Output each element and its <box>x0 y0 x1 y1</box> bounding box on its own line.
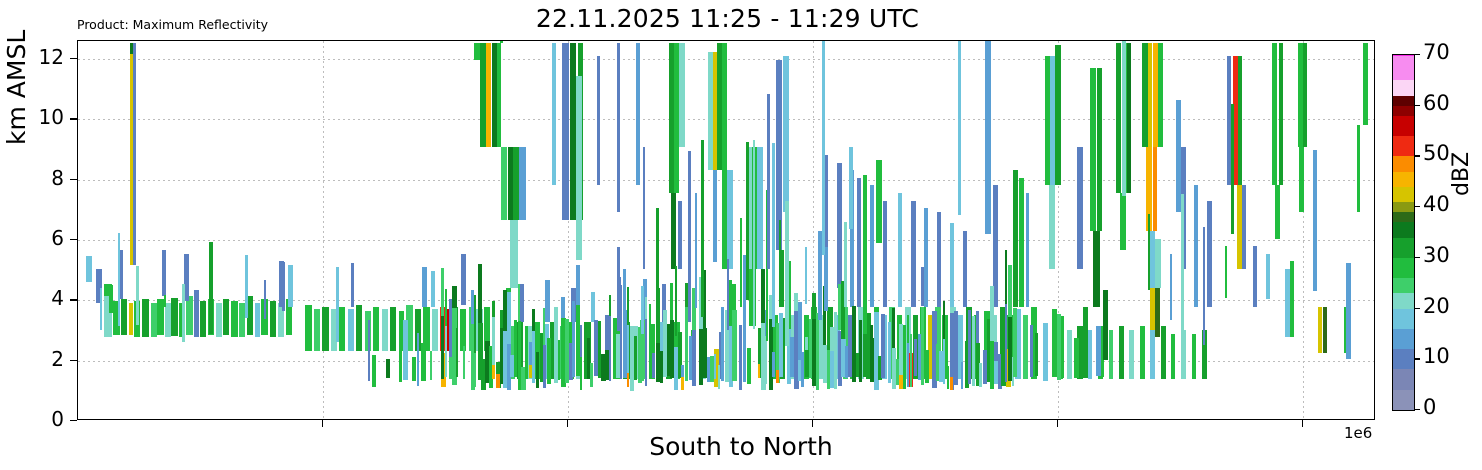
reflectivity-cell <box>1225 246 1227 299</box>
reflectivity-cell <box>518 321 521 390</box>
reflectivity-cell <box>1049 185 1055 269</box>
reflectivity-cell <box>910 334 912 388</box>
reflectivity-cell <box>399 340 402 382</box>
reflectivity-cell <box>753 140 755 328</box>
reflectivity-cell <box>947 366 950 389</box>
reflectivity-cell <box>500 41 503 43</box>
reflectivity-cell <box>963 231 967 307</box>
colorbar-band <box>1393 106 1414 116</box>
reflectivity-cell <box>118 233 120 326</box>
reflectivity-cell <box>200 301 206 337</box>
reflectivity-cell <box>598 321 601 379</box>
reflectivity-cell <box>645 319 647 386</box>
reflectivity-cell <box>591 292 595 322</box>
reflectivity-cell <box>1253 246 1257 307</box>
reflectivity-cell <box>688 151 690 322</box>
reflectivity-cell <box>1176 100 1181 212</box>
reflectivity-cell <box>1266 254 1270 300</box>
reflectivity-cell <box>386 359 391 377</box>
reflectivity-cell <box>1194 185 1198 307</box>
reflectivity-cell <box>339 307 345 351</box>
y-axis-tick <box>70 179 77 180</box>
reflectivity-cell <box>972 316 975 387</box>
reflectivity-cell <box>231 301 237 337</box>
reflectivity-cell <box>1019 178 1024 307</box>
reflectivity-cell <box>216 303 222 337</box>
colorbar-band <box>1393 212 1414 222</box>
y-axis-tick <box>70 239 77 240</box>
reflectivity-cell <box>681 377 683 391</box>
reflectivity-cell <box>1153 147 1158 231</box>
reflectivity-cell <box>109 285 113 313</box>
reflectivity-cell <box>1043 323 1047 381</box>
reflectivity-cell <box>513 147 519 219</box>
reflectivity-cell <box>1192 334 1197 380</box>
y-axis-tick-label: 4 <box>18 286 64 310</box>
reflectivity-cell <box>645 297 647 319</box>
reflectivity-cell <box>727 170 733 269</box>
colorbar-tick <box>1414 257 1420 258</box>
reflectivity-cell <box>713 170 717 262</box>
y-axis-tick <box>70 360 77 361</box>
colorbar-tick <box>1414 105 1420 106</box>
reflectivity-cell <box>171 298 177 336</box>
reflectivity-cell <box>714 354 716 379</box>
reflectivity-cell <box>356 305 362 351</box>
reflectivity-cell <box>985 40 990 234</box>
reflectivity-cell <box>623 269 626 341</box>
reflectivity-cell <box>958 40 961 215</box>
reflectivity-cell <box>649 304 652 378</box>
reflectivity-cell <box>805 247 808 303</box>
reflectivity-cell <box>336 267 339 342</box>
reflectivity-cell <box>609 316 611 381</box>
y-axis-tick-label: 6 <box>18 226 64 250</box>
reflectivity-cell <box>627 287 629 325</box>
reflectivity-cell <box>561 297 565 318</box>
reflectivity-cell <box>129 303 134 335</box>
reflectivity-cell <box>474 295 476 352</box>
reflectivity-cell <box>121 299 127 335</box>
y-axis-tick <box>70 118 77 119</box>
reflectivity-cell <box>816 313 819 390</box>
colorbar-band <box>1393 293 1414 308</box>
reflectivity-cell <box>486 43 492 148</box>
colorbar-tick-label: 60 <box>1423 91 1450 115</box>
reflectivity-cell <box>441 268 443 317</box>
reflectivity-cell <box>876 160 881 243</box>
colorbar-band <box>1393 369 1414 389</box>
reflectivity-cell <box>620 324 623 379</box>
colorbar-band <box>1393 278 1414 293</box>
reflectivity-cell <box>1090 68 1096 231</box>
reflectivity-cell <box>675 266 677 337</box>
reflectivity-cell <box>1083 307 1088 378</box>
reflectivity-cell <box>86 256 92 283</box>
reflectivity-cell <box>282 262 285 312</box>
reflectivity-cell <box>765 336 767 384</box>
reflectivity-cell <box>1150 330 1155 379</box>
reflectivity-cell <box>671 193 676 269</box>
reflectivity-cell <box>1148 43 1153 148</box>
reflectivity-cell <box>264 280 267 319</box>
reflectivity-cell <box>950 223 954 307</box>
reflectivity-cell <box>1077 147 1082 269</box>
reflectivity-cell <box>758 364 761 378</box>
reflectivity-cell <box>461 254 466 305</box>
reflectivity-cell <box>536 352 539 387</box>
colorbar-tick-label: 0 <box>1423 395 1436 419</box>
reflectivity-cell <box>921 267 924 306</box>
reflectivity-cell <box>100 288 102 330</box>
reflectivity-cell <box>590 363 593 387</box>
reflectivity-cell <box>845 346 848 378</box>
reflectivity-cell <box>914 339 917 376</box>
reflectivity-cell <box>456 328 458 377</box>
reflectivity-cell <box>194 290 199 338</box>
reflectivity-cell <box>888 322 890 383</box>
reflectivity-cell <box>580 325 582 357</box>
reflectivity-cell <box>322 307 328 351</box>
reflectivity-cell <box>547 338 552 384</box>
reflectivity-cell <box>1303 43 1307 148</box>
reflectivity-cell <box>609 295 611 315</box>
reflectivity-cell <box>1005 304 1008 382</box>
colorbar-band <box>1393 187 1414 202</box>
reflectivity-cell <box>430 351 433 381</box>
reflectivity-cell <box>892 308 895 348</box>
reflectivity-cell <box>1074 338 1079 379</box>
reflectivity-cell <box>441 316 443 378</box>
reflectivity-cell <box>431 271 435 307</box>
reflectivity-cell <box>209 242 213 334</box>
colorbar-band <box>1393 309 1414 329</box>
reflectivity-cell <box>1323 307 1327 353</box>
reflectivity-cell <box>348 309 354 351</box>
reflectivity-cell <box>474 353 476 387</box>
reflectivity-cell <box>779 313 783 378</box>
reflectivity-cell <box>859 336 862 382</box>
y-axis-tick <box>70 58 77 59</box>
reflectivity-cell <box>562 43 568 220</box>
x-axis-tick <box>812 420 813 427</box>
reflectivity-cell <box>133 43 136 265</box>
colorbar-band <box>1393 222 1414 237</box>
reflectivity-cell <box>1097 68 1102 231</box>
reflectivity-cell <box>445 289 447 326</box>
reflectivity-cell <box>1026 193 1030 307</box>
x-axis-exponent: 1e6 <box>1344 424 1372 442</box>
reflectivity-cell <box>643 147 646 269</box>
reflectivity-cell <box>652 353 655 377</box>
reflectivity-cell <box>1279 43 1284 186</box>
reflectivity-cell <box>898 193 902 307</box>
reflectivity-cell <box>670 283 673 321</box>
reflectivity-cell <box>417 333 420 386</box>
colorbar-tick <box>1414 308 1420 309</box>
reflectivity-cell <box>1155 239 1160 288</box>
reflectivity-cell <box>767 94 770 268</box>
colorbar-tick <box>1414 358 1420 359</box>
reflectivity-cell <box>979 363 982 387</box>
colorbar-band <box>1393 258 1414 278</box>
colorbar-band <box>1393 136 1414 156</box>
x-axis-title: South to North <box>0 432 1482 461</box>
reflectivity-cell <box>950 377 953 391</box>
reflectivity-cell <box>1285 269 1290 337</box>
reflectivity-cell <box>857 178 861 307</box>
reflectivity-cell <box>1318 307 1323 353</box>
reflectivity-cell <box>545 280 550 322</box>
reflectivity-cell <box>747 348 752 384</box>
colorbar-band <box>1393 116 1414 136</box>
colorbar-tick-label: 20 <box>1423 294 1450 318</box>
reflectivity-cell <box>785 201 789 346</box>
colorbar-band <box>1393 172 1414 187</box>
reflectivity-cell <box>1093 231 1099 307</box>
reflectivity-cell <box>961 362 963 389</box>
y-axis-tick <box>70 420 77 421</box>
reflectivity-cell <box>1023 315 1028 380</box>
reflectivity-cell <box>883 201 887 307</box>
reflectivity-cell <box>636 43 640 186</box>
reflectivity-cell <box>372 355 376 387</box>
reflectivity-cell <box>1067 330 1072 379</box>
reflectivity-cell <box>1275 185 1280 238</box>
reflectivity-cell <box>1203 227 1205 346</box>
reflectivity-cell <box>1170 254 1173 320</box>
reflectivity-cell <box>1119 326 1124 379</box>
reflectivity-cell <box>463 346 465 379</box>
plot-area <box>77 40 1375 420</box>
reflectivity-cell <box>1161 326 1166 379</box>
reflectivity-cell <box>772 143 774 327</box>
reflectivity-cell <box>943 301 945 339</box>
reflectivity-cell <box>518 284 521 321</box>
reflectivity-cell <box>837 163 842 288</box>
reflectivity-cell <box>576 76 581 260</box>
colorbar-band <box>1393 329 1414 349</box>
reflectivity-cell <box>679 43 685 148</box>
reflectivity-cell <box>740 218 742 307</box>
reflectivity-cell <box>746 142 748 301</box>
y-axis-tick-label: 0 <box>18 407 64 431</box>
reflectivity-cell <box>1140 326 1145 379</box>
reflectivity-cell <box>519 147 525 219</box>
reflectivity-cell <box>432 309 438 351</box>
reflectivity-cell <box>543 308 545 345</box>
reflectivity-cell <box>576 265 580 305</box>
reflectivity-cell <box>701 140 704 316</box>
reflectivity-cell <box>460 309 466 351</box>
colorbar-tick <box>1414 155 1420 156</box>
reflectivity-cell <box>136 266 139 325</box>
reflectivity-cell <box>501 147 507 219</box>
colorbar-band <box>1393 55 1414 80</box>
reflectivity-cell <box>558 340 561 380</box>
reflectivity-cell <box>270 301 276 337</box>
colorbar-tick-label: 10 <box>1423 344 1450 368</box>
reflectivity-cell <box>822 40 825 255</box>
reflectivity-cell <box>580 357 582 391</box>
colorbar-band <box>1393 55 1414 56</box>
colorbar-band <box>1393 96 1414 106</box>
reflectivity-cell <box>543 345 545 388</box>
reflectivity-cell <box>943 339 945 384</box>
radar-cross-section-figure: 22.11.2025 11:25 - 11:29 UTC Product: Ma… <box>0 0 1482 470</box>
reflectivity-cell <box>142 299 150 337</box>
reflectivity-cell <box>1357 125 1361 212</box>
reflectivity-cell <box>510 220 518 288</box>
reflectivity-cell <box>907 315 909 343</box>
reflectivity-cell <box>1155 288 1160 337</box>
reflectivity-cell <box>552 43 557 186</box>
reflectivity-cell <box>976 311 980 343</box>
reflectivity-cell <box>779 220 781 304</box>
reflectivity-cell <box>954 311 958 385</box>
colorbar-tick <box>1414 54 1420 55</box>
reflectivity-cell <box>1005 250 1007 304</box>
reflectivity-cell <box>1013 308 1017 377</box>
reflectivity-cell <box>907 343 909 386</box>
reflectivity-cell <box>863 175 867 334</box>
reflectivity-cell <box>881 314 885 378</box>
reflectivity-cell <box>1061 316 1064 378</box>
reflectivity-cell <box>703 270 706 328</box>
colorbar-tick-label: 30 <box>1423 243 1450 267</box>
reflectivity-cell <box>692 330 696 386</box>
reflectivity-cell <box>1088 330 1093 379</box>
reflectivity-cell <box>1181 194 1184 335</box>
reflectivity-cell <box>532 309 534 331</box>
reflectivity-cell <box>849 147 853 228</box>
reflectivity-cell <box>305 305 311 351</box>
reflectivity-cell <box>1290 261 1294 337</box>
reflectivity-cell <box>445 326 447 377</box>
colorbar-tick <box>1414 206 1420 207</box>
y-axis-tick <box>70 299 77 300</box>
product-annotation: Product: Maximum Reflectivity <box>77 17 268 32</box>
reflectivity-cells <box>78 41 1374 419</box>
reflectivity-cell <box>151 303 157 337</box>
reflectivity-cell <box>368 320 370 381</box>
reflectivity-cell <box>1158 43 1163 148</box>
reflectivity-cell <box>1103 290 1107 360</box>
reflectivity-cell <box>870 325 873 338</box>
reflectivity-cell <box>641 334 643 381</box>
colorbar-tick-label: 70 <box>1423 40 1450 64</box>
reflectivity-cell <box>1109 330 1114 379</box>
reflectivity-cell <box>492 365 494 379</box>
reflectivity-cell <box>1013 170 1018 307</box>
reflectivity-cell <box>422 267 427 307</box>
reflectivity-cell <box>968 310 971 384</box>
reflectivity-cell <box>1120 193 1126 250</box>
reflectivity-cell <box>165 303 171 337</box>
reflectivity-cell <box>911 201 916 307</box>
reflectivity-cell <box>1346 263 1351 359</box>
x-axis-tick <box>1302 420 1303 427</box>
figure-title: 22.11.2025 11:25 - 11:29 UTC <box>500 4 955 33</box>
reflectivity-cell <box>1299 147 1304 212</box>
reflectivity-cell <box>727 259 729 330</box>
reflectivity-cell <box>1171 334 1176 380</box>
reflectivity-cell <box>1363 43 1368 125</box>
reflectivity-cell <box>245 255 248 318</box>
reflectivity-cell <box>1035 333 1038 377</box>
reflectivity-cell <box>532 331 535 383</box>
reflectivity-cell <box>721 307 724 381</box>
reflectivity-cell <box>732 284 736 310</box>
reflectivity-cell <box>718 365 721 389</box>
y-axis-tick-label: 2 <box>18 347 64 371</box>
colorbar-band <box>1393 80 1414 95</box>
reflectivity-cell <box>1008 265 1012 317</box>
reflectivity-cell <box>921 307 924 385</box>
reflectivity-cell <box>478 264 482 323</box>
reflectivity-cell <box>255 303 260 337</box>
reflectivity-cell <box>373 307 379 351</box>
reflectivity-cell <box>924 208 928 307</box>
reflectivity-cell <box>1238 56 1242 185</box>
reflectivity-cell <box>507 292 511 344</box>
reflectivity-cell <box>474 43 480 60</box>
reflectivity-cell <box>497 43 501 148</box>
reflectivity-cell <box>288 265 293 307</box>
x-axis-tick <box>567 420 568 427</box>
reflectivity-cell <box>678 201 682 269</box>
x-axis-tick <box>322 420 323 427</box>
reflectivity-cell <box>783 56 789 212</box>
colorbar-tick <box>1414 409 1420 410</box>
x-axis-tick <box>1057 420 1058 427</box>
reflectivity-cell <box>164 295 167 307</box>
reflectivity-cell <box>182 284 186 343</box>
reflectivity-cell <box>525 326 528 379</box>
colorbar-tick-label: 40 <box>1423 192 1450 216</box>
reflectivity-cell <box>492 301 495 317</box>
reflectivity-cell <box>859 320 862 336</box>
reflectivity-cell <box>627 373 629 387</box>
reflectivity-cell <box>1116 43 1121 193</box>
reflectivity-cell <box>1181 330 1186 379</box>
reflectivity-cell <box>223 299 229 335</box>
reflectivity-cell <box>186 296 193 336</box>
reflectivity-cell <box>870 185 875 307</box>
colorbar-band <box>1393 238 1414 258</box>
y-axis-tick-label: 8 <box>18 166 64 190</box>
colorbar-band <box>1393 390 1414 410</box>
colorbar-band <box>1393 202 1414 212</box>
reflectivity-cell <box>757 147 763 269</box>
colorbar-band <box>1393 349 1414 369</box>
reflectivity-cell <box>824 247 828 311</box>
reflectivity-cell <box>421 343 426 381</box>
reflectivity-cell <box>162 250 166 296</box>
reflectivity-cell <box>695 193 697 307</box>
reflectivity-cell <box>314 309 320 351</box>
colorbar-band <box>1393 156 1414 171</box>
colorbar <box>1392 54 1415 411</box>
reflectivity-cell <box>239 303 245 337</box>
reflectivity-cell <box>403 320 408 380</box>
reflectivity-cell <box>1055 45 1060 186</box>
reflectivity-cell <box>529 365 532 379</box>
colorbar-title: dBZ <box>1449 152 1474 196</box>
reflectivity-cell <box>1122 40 1126 196</box>
reflectivity-cell <box>572 301 575 377</box>
reflectivity-cell <box>351 263 355 307</box>
